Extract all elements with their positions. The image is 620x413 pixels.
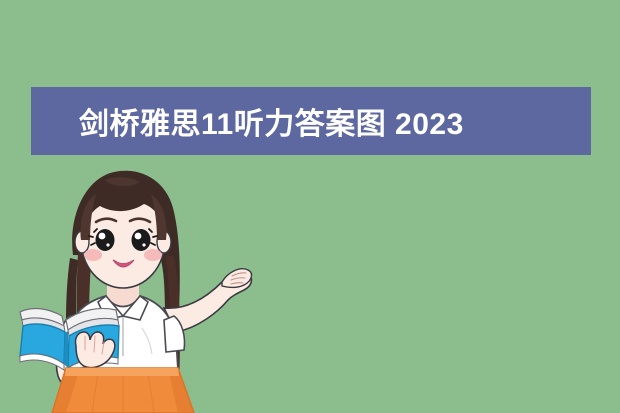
- title-banner: 剑桥雅思11听力答案图 2023: [31, 87, 591, 155]
- poster-canvas: 剑桥雅思11听力答案图 2023: [0, 0, 620, 413]
- page-title: 剑桥雅思11听力答案图 2023: [79, 99, 464, 143]
- skirt-icon: [52, 368, 194, 413]
- student-girl-illustration: [18, 160, 268, 413]
